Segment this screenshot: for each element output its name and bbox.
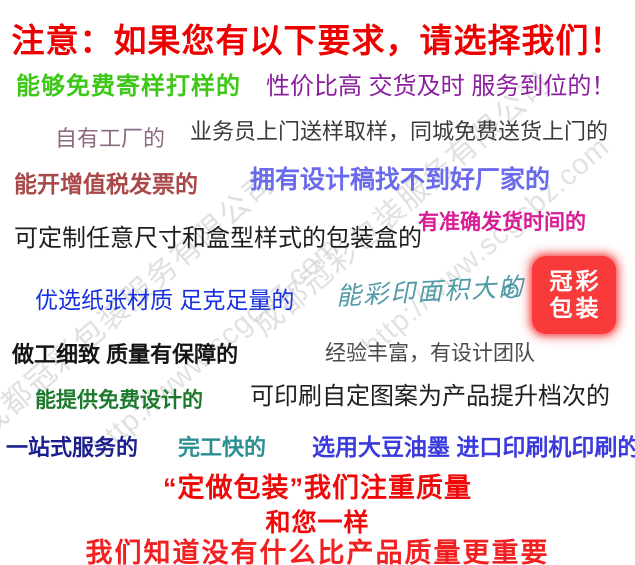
swirl-icon: [503, 283, 519, 299]
feature-free-design: 能提供免费设计的: [35, 384, 203, 414]
feature-fast-completion: 完工快的: [178, 430, 266, 462]
feature-value-delivery: 性价比高 交货及时 服务到位的！: [266, 66, 615, 101]
feature-has-design-draft: 拥有设计稿找不到好厂家的: [250, 160, 550, 196]
feature-quality-paper: 优选纸张材质 足克足量的: [35, 281, 294, 315]
feature-own-factory: 自有工厂的: [55, 121, 165, 153]
feature-soy-ink-printing: 选用大豆油墨 进口印刷机印刷的: [312, 428, 635, 462]
feature-experienced-team: 经验丰富，有设计团队: [325, 337, 535, 367]
company-stamp: 冠彩 包装: [532, 256, 616, 334]
feature-custom-size-box: 可定制任意尺寸和盒型样式的包装盒的: [14, 218, 422, 253]
feature-one-stop-service: 一站式服务的: [6, 430, 138, 462]
feature-custom-pattern: 可印刷自定图案为产品提升档次的: [250, 376, 610, 411]
feature-vat-invoice: 能开增值税发票的: [14, 165, 198, 199]
closing-line-important: 我们知道没有什么比产品质量更重要: [0, 531, 635, 565]
feature-free-sample: 能够免费寄样打样的: [16, 66, 241, 101]
promo-banner: 成都冠彩包装服务有限公司 http://www.scgcbz.com 成都冠彩包…: [0, 0, 635, 565]
stamp-text-bottom: 包装: [547, 295, 602, 322]
feature-large-print-area: 能彩印面积大的: [335, 267, 526, 313]
feature-door-to-door: 业务员上门送样取样，同城免费送货上门的: [190, 114, 608, 146]
closing-line-quality: “定做包装”我们注重质量: [0, 466, 635, 505]
feature-accurate-shipping: 有准确发货时间的: [418, 206, 586, 236]
feature-fine-workmanship: 做工细致 质量有保障的: [12, 337, 238, 369]
stamp-text-top: 冠彩: [547, 268, 602, 295]
stamp-body: 冠彩 包装: [532, 256, 616, 334]
banner-headline: 注意：如果您有以下要求，请选择我们！: [0, 14, 635, 62]
